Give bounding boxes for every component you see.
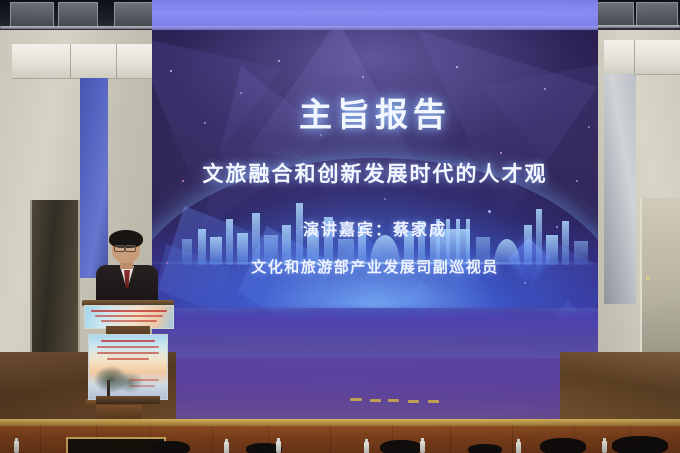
- ceiling-speaker-panel: [10, 2, 54, 28]
- upper-wall-band: [152, 0, 598, 32]
- left-doorway: [30, 200, 80, 358]
- podium-base: [96, 396, 160, 404]
- floor-marker: [388, 399, 399, 402]
- left-wall-beam: [12, 44, 164, 79]
- pine-landscape-art: [93, 366, 145, 396]
- slide-speaker-role: 文化和旅游部产业发展司副巡视员: [152, 256, 598, 277]
- slide-subtitle: 文旅融合和创新发展时代的人才观: [152, 158, 598, 188]
- speaker-person: [96, 232, 158, 310]
- slide-title: 主旨报告: [152, 88, 598, 136]
- stage-floor-right-wood: [560, 352, 680, 424]
- audience-head: [380, 440, 422, 453]
- water-bottle: [224, 442, 229, 453]
- audience-head: [468, 444, 502, 453]
- slide-speaker-line: 演讲嘉宾：蔡家成: [152, 216, 598, 240]
- audience-head: [540, 438, 586, 453]
- led-presentation-screen: 主旨报告 文旅融合和创新发展时代的人才观 演讲嘉宾：蔡家成 文化和旅游部产业发展…: [152, 30, 598, 360]
- ceiling-speaker-panel: [58, 2, 98, 28]
- right-doorway: [640, 198, 680, 358]
- audience-head: [150, 441, 190, 453]
- glasses-icon: [125, 245, 136, 252]
- water-bottle: [602, 441, 607, 453]
- glasses-icon: [114, 245, 125, 252]
- water-bottle: [516, 442, 521, 453]
- water-bottle: [364, 442, 369, 453]
- water-bottle: [276, 441, 281, 453]
- floor-marker: [370, 399, 381, 402]
- podium-lower-banner: [88, 334, 168, 400]
- water-bottle: [420, 441, 425, 453]
- right-glass-panel: [604, 74, 636, 304]
- audience-head: [612, 436, 668, 453]
- slide-text-block: 主旨报告 文旅融合和创新发展时代的人才观 演讲嘉宾：蔡家成 文化和旅游部产业发展…: [152, 30, 598, 360]
- ceiling-rail: [0, 26, 176, 29]
- floor-marker: [408, 400, 419, 403]
- right-wall-beam: [604, 40, 680, 75]
- podium: [82, 300, 174, 400]
- floor-marker: [428, 400, 439, 403]
- water-bottle: [14, 441, 19, 453]
- floor-marker: [350, 398, 362, 401]
- auditorium-keynote-photo: 主旨报告 文旅融合和创新发展时代的人才观 演讲嘉宾：蔡家成 文化和旅游部产业发展…: [0, 0, 680, 453]
